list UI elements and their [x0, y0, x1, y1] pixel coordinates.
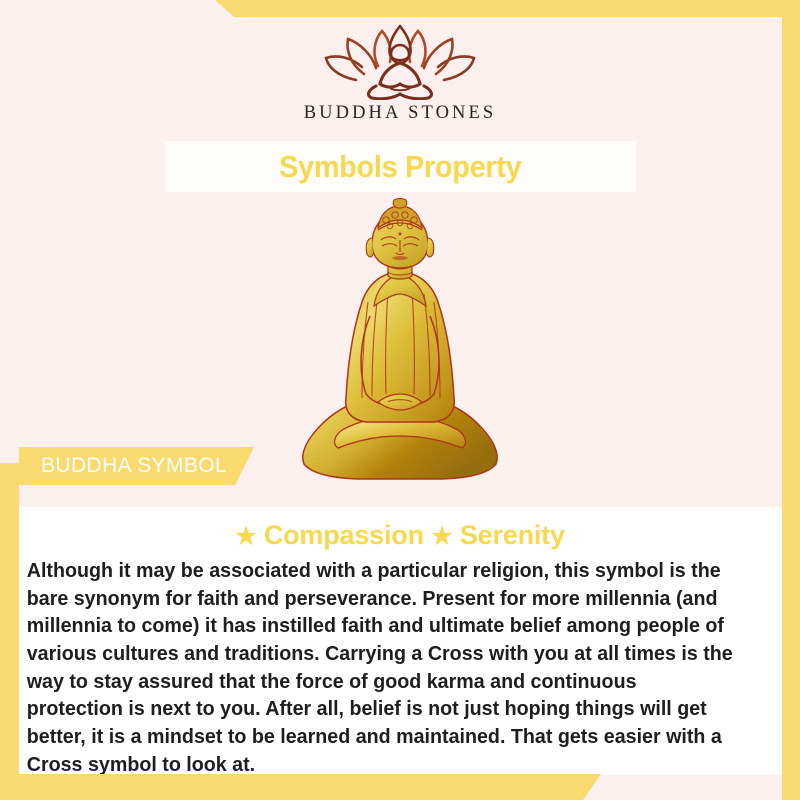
lotus-meditation-figure-icon: [320, 22, 480, 100]
buddha-statue-icon: [282, 198, 518, 488]
frame-right-accent-strip: [782, 0, 800, 800]
star-icon-first: ★: [235, 523, 256, 550]
title-band: Symbols Property: [165, 141, 636, 192]
content-panel: ★ Compassion ★ Serenity Although it may …: [0, 507, 800, 775]
attribute-first: Compassion: [264, 520, 424, 550]
brand-logo: BUDDHA STONES: [307, 22, 493, 142]
symbol-attributes: ★ Compassion ★ Serenity: [0, 507, 800, 551]
frame-left-accent-strip: [0, 463, 19, 800]
star-icon-second: ★: [431, 523, 452, 550]
symbol-category-tag: BUDDHA SYMBOL: [19, 447, 254, 485]
description-text: Although it may be associated with a par…: [0, 551, 764, 779]
page-title: Symbols Property: [279, 149, 521, 185]
attribute-second: Serenity: [460, 520, 565, 550]
header: BUDDHA STONES: [0, 0, 800, 141]
brand-name: BUDDHA STONES: [304, 103, 497, 124]
symbol-category-label: BUDDHA SYMBOL: [19, 454, 227, 478]
